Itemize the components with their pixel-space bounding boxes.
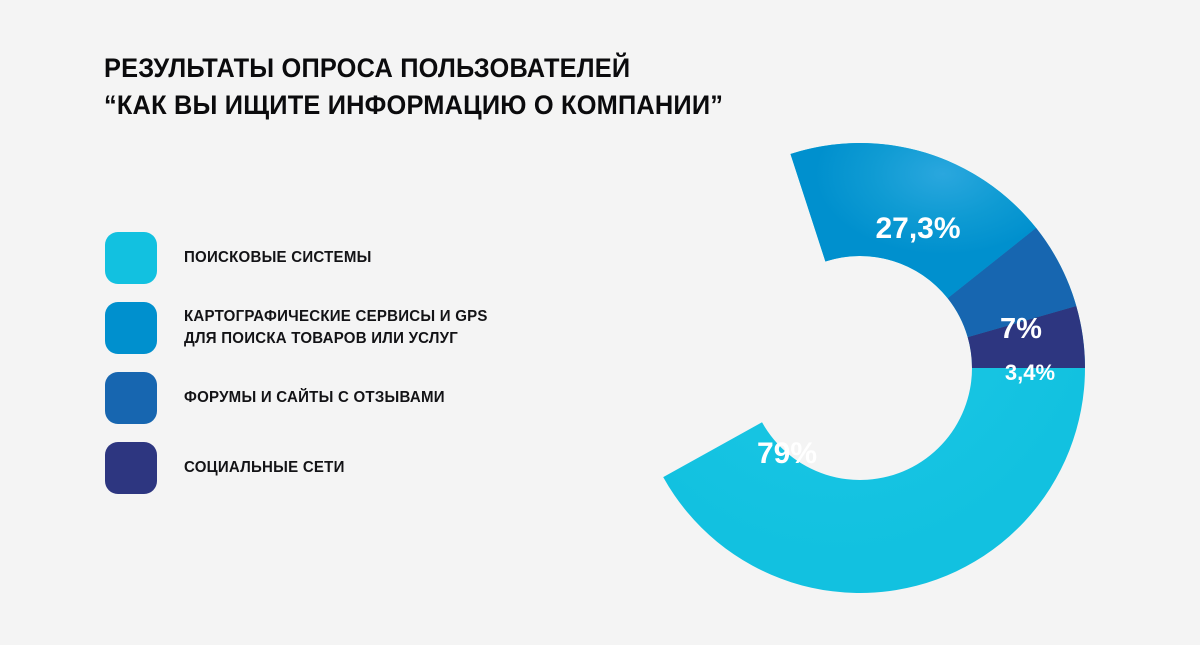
legend-item-label: ФОРУМЫ И САЙТЫ С ОТЗЫВАМИ bbox=[184, 387, 445, 409]
donut-slice-label: 7% bbox=[1000, 313, 1042, 345]
chart-canvas: РЕЗУЛЬТАТЫ ОПРОСА ПОЛЬЗОВАТЕЛЕЙ “КАК ВЫ … bbox=[0, 0, 1200, 645]
page-title-line-2: “КАК ВЫ ИЩИТЕ ИНФОРМАЦИЮ О КОМПАНИИ” bbox=[104, 87, 818, 124]
legend-item[interactable]: ПОИСКОВЫЕ СИСТЕМЫ bbox=[105, 232, 575, 284]
donut-slice-label: 27,3% bbox=[875, 212, 960, 245]
legend-item-label: КАРТОГРАФИЧЕСКИЕ СЕРВИСЫ И GPS ДЛЯ ПОИСК… bbox=[184, 306, 488, 350]
donut-slice-label: 3,4% bbox=[1005, 360, 1055, 385]
donut-chart-svg: 79%27,3%7%3,4% bbox=[635, 143, 1085, 593]
legend-item[interactable]: КАРТОГРАФИЧЕСКИЕ СЕРВИСЫ И GPS ДЛЯ ПОИСК… bbox=[105, 302, 575, 354]
page-title-line-1: РЕЗУЛЬТАТЫ ОПРОСА ПОЛЬЗОВАТЕЛЕЙ bbox=[104, 50, 818, 87]
chart-legend: ПОИСКОВЫЕ СИСТЕМЫКАРТОГРАФИЧЕСКИЕ СЕРВИС… bbox=[105, 232, 575, 494]
legend-item-label: ПОИСКОВЫЕ СИСТЕМЫ bbox=[184, 247, 372, 269]
donut-chart: 79%27,3%7%3,4% bbox=[635, 143, 1085, 593]
legend-color-swatch bbox=[105, 232, 157, 284]
donut-slice-label: 79% bbox=[757, 437, 817, 470]
legend-color-swatch bbox=[105, 302, 157, 354]
page-title: РЕЗУЛЬТАТЫ ОПРОСА ПОЛЬЗОВАТЕЛЕЙ “КАК ВЫ … bbox=[104, 50, 864, 124]
legend-color-swatch bbox=[105, 372, 157, 424]
legend-item-label: СОЦИАЛЬНЫЕ СЕТИ bbox=[184, 457, 345, 479]
legend-item[interactable]: СОЦИАЛЬНЫЕ СЕТИ bbox=[105, 442, 575, 494]
legend-item[interactable]: ФОРУМЫ И САЙТЫ С ОТЗЫВАМИ bbox=[105, 372, 575, 424]
legend-color-swatch bbox=[105, 442, 157, 494]
